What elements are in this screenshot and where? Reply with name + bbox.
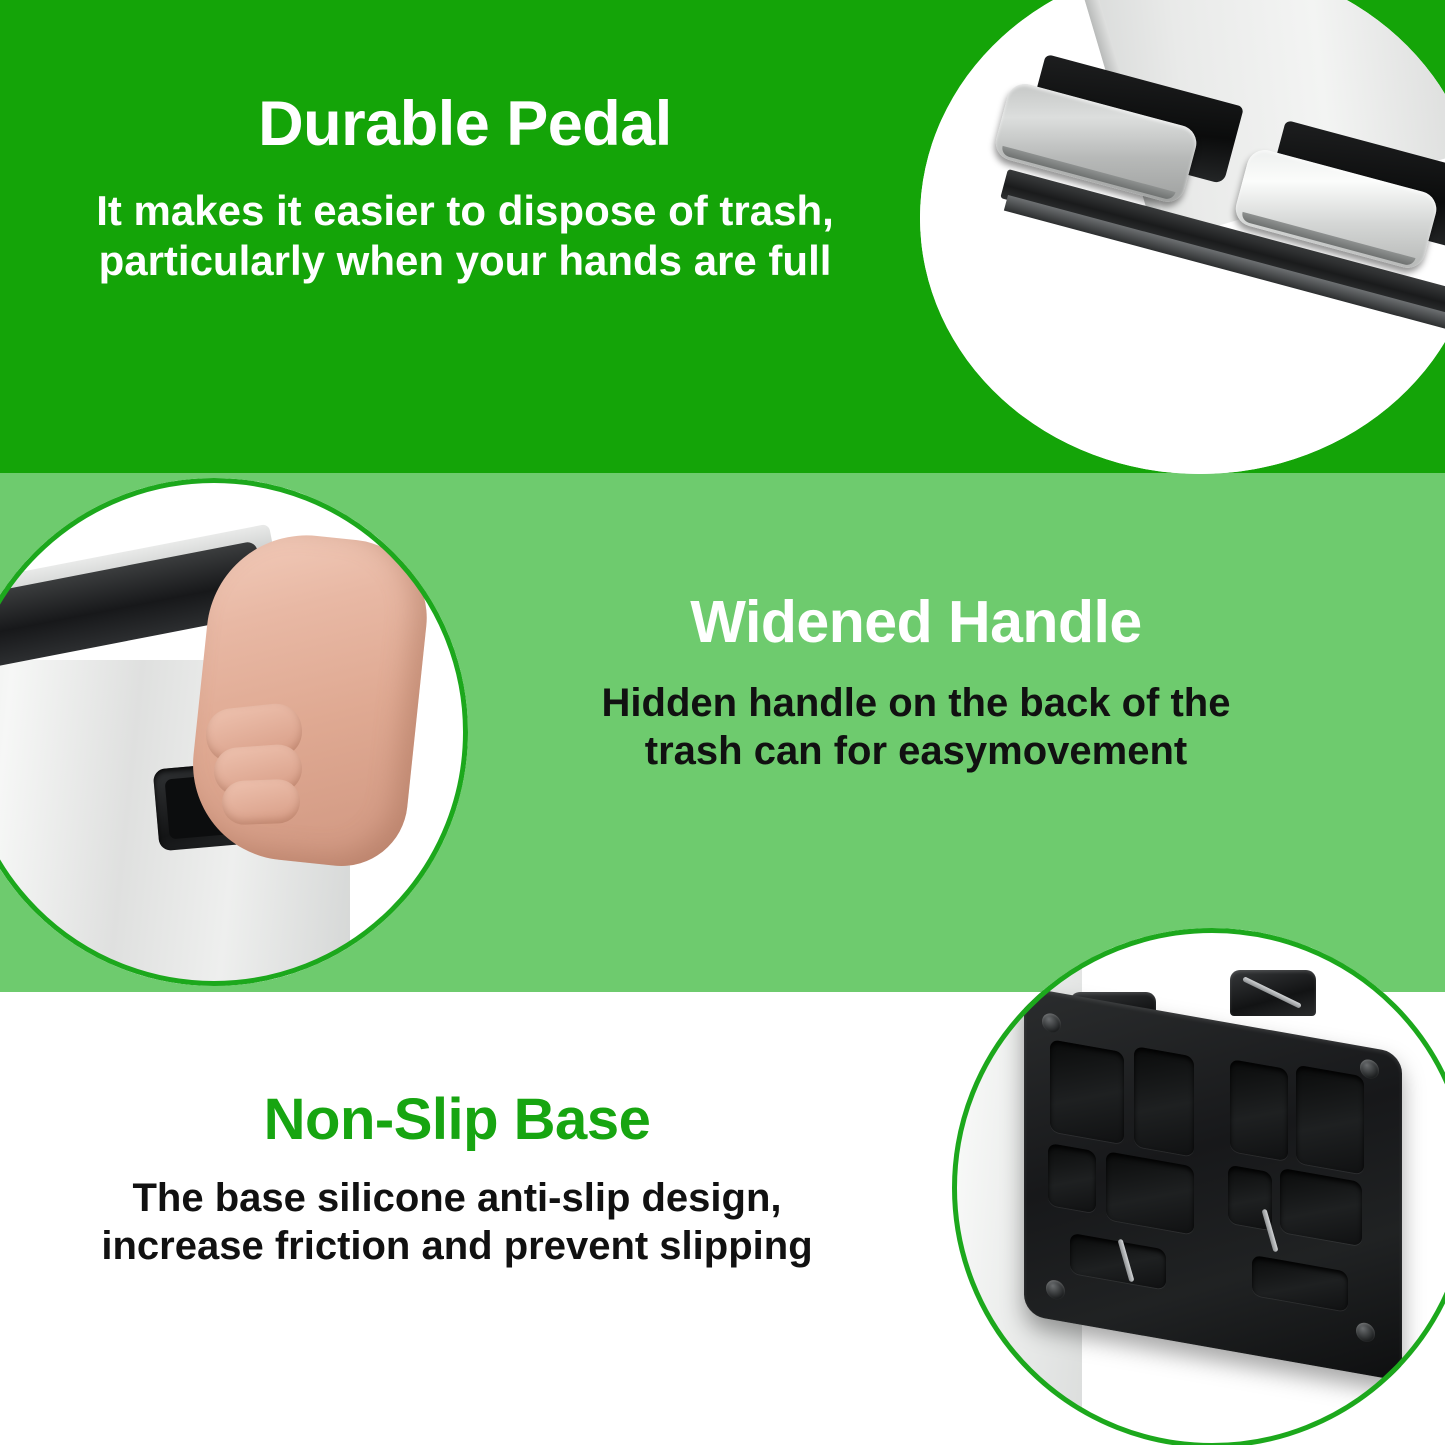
base-pocket-5 <box>1230 1059 1288 1161</box>
non-slip-base-body: The base silicone anti-slip design, incr… <box>92 1174 822 1270</box>
base-scene <box>952 928 1445 1445</box>
non-slip-base-text-block: Non-Slip Base The base silicone anti-sli… <box>92 1090 822 1270</box>
base-screw-bl <box>1046 1279 1065 1301</box>
durable-pedal-text-block: Durable Pedal It makes it easier to disp… <box>60 92 870 286</box>
base-pocket-2 <box>1134 1046 1194 1157</box>
widened-handle-heading: Widened Handle <box>566 592 1266 653</box>
base-pocket-4 <box>1106 1151 1194 1235</box>
base-screw-tr <box>1360 1058 1379 1080</box>
hand-gripping-handle-photo <box>0 478 468 986</box>
base-screw-tl <box>1042 1012 1061 1034</box>
widened-handle-body: Hidden handle on the back of the trash c… <box>566 679 1266 775</box>
base-plate <box>1024 987 1402 1382</box>
finger-ring <box>221 779 300 826</box>
base-pocket-1 <box>1050 1039 1124 1144</box>
base-pocket-6 <box>1296 1065 1364 1175</box>
base-pocket-3 <box>1048 1143 1096 1213</box>
non-slip-base-heading: Non-Slip Base <box>92 1090 822 1150</box>
base-pocket-10 <box>1252 1255 1348 1312</box>
pedal-scene <box>920 0 1445 474</box>
black-base-underside-photo <box>952 928 1445 1445</box>
product-feature-infographic: Durable Pedal It makes it easier to disp… <box>0 0 1445 1445</box>
base-pocket-8 <box>1280 1168 1362 1246</box>
handle-scene <box>0 478 468 986</box>
widened-handle-text-block: Widened Handle Hidden handle on the back… <box>566 592 1266 775</box>
base-screw-br <box>1356 1321 1375 1343</box>
durable-pedal-body: It makes it easier to dispose of trash, … <box>60 186 870 287</box>
dual-foot-pedal-photo <box>920 0 1445 474</box>
durable-pedal-heading: Durable Pedal <box>60 92 870 158</box>
